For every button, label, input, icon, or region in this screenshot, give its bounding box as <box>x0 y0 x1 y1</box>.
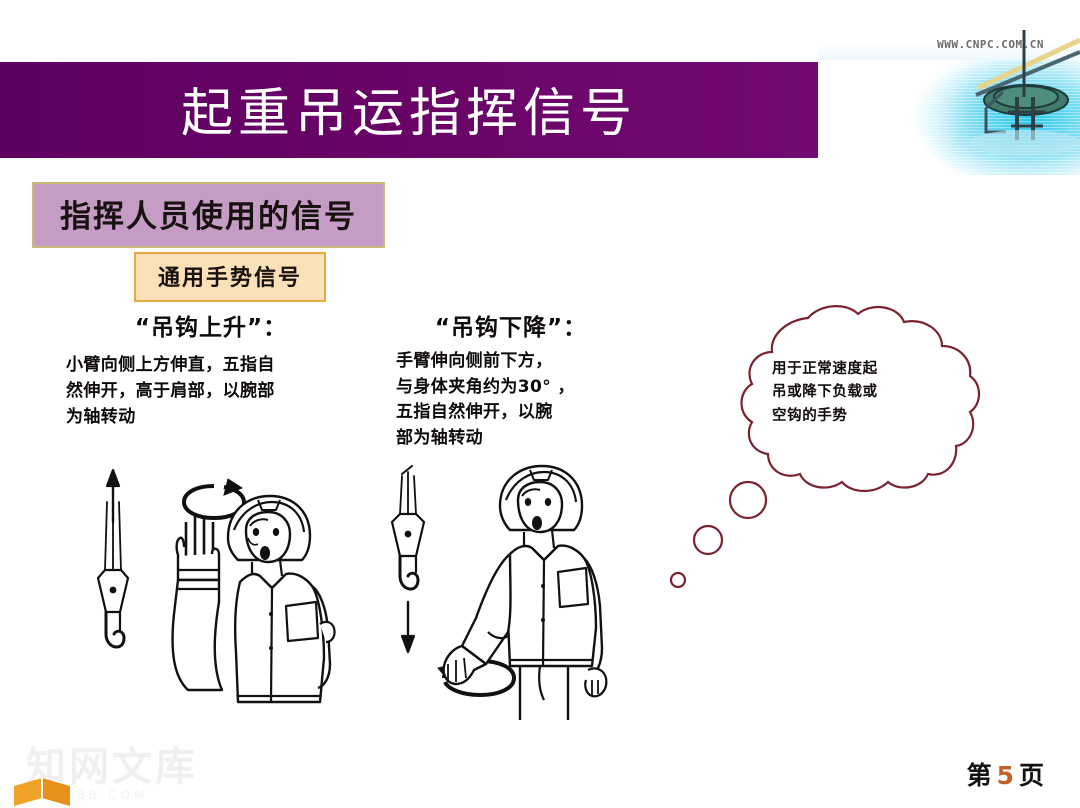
worker-figure <box>444 466 607 720</box>
sub-heading-box: 通用手势信号 <box>134 252 326 302</box>
signal-description-line: 小臂向侧上方伸直，五指自 <box>66 353 356 379</box>
thought-bubble-line: 空钩的手势 <box>772 405 922 428</box>
signal-description: 手臂伸向侧前下方， 与身体夹角约为30° ， 五指自然伸开，以腕 部为轴转动 <box>396 349 626 451</box>
thought-bubble-text: 用于正常速度起 吊或降下负载或 空钩的手势 <box>772 358 922 428</box>
page-number-footer: 第5页 <box>967 756 1046 792</box>
thought-bubble: 用于正常速度起 吊或降下负载或 空钩的手势 <box>660 292 990 596</box>
section-heading-box: 指挥人员使用的信号 <box>32 182 385 248</box>
signal-title: “吊钩上升”： <box>66 308 356 342</box>
signal-description: 小臂向侧上方伸直，五指自 然伸开，高于肩部，以腕部 为轴转动 <box>66 353 356 430</box>
down-arrow-icon <box>402 602 414 652</box>
signal-description-line: 手臂伸向侧前下方， <box>396 349 626 375</box>
thought-bubble-shape <box>660 292 990 592</box>
page-footer-prefix: 第 <box>967 761 994 790</box>
illustration-hook-down <box>382 452 652 724</box>
illustration-hook-up <box>62 452 362 726</box>
raised-hand-gesture <box>173 516 222 690</box>
page-footer-suffix: 页 <box>1019 761 1046 790</box>
thought-bubble-line: 吊或降下负载或 <box>772 381 922 404</box>
signal-description-line: 与身体夹角约为30° ， <box>396 375 626 401</box>
signal-description-line: 然伸开，高于肩部，以腕部 <box>66 379 356 405</box>
watermark-book-logo-icon <box>8 764 78 808</box>
signal-item-hook-down: “吊钩下降”： 手臂伸向侧前下方， 与身体夹角约为30° ， 五指自然伸开，以腕… <box>396 308 626 451</box>
worker-figure <box>228 496 335 702</box>
thought-bubble-trail <box>671 482 766 587</box>
signal-title: “吊钩下降”： <box>396 308 626 342</box>
site-url-watermark: WWW.CNPC.COM.CN <box>937 38 1044 51</box>
signal-description-line: 为轴转动 <box>66 405 356 431</box>
signal-item-hook-up: “吊钩上升”： 小臂向侧上方伸直，五指自 然伸开，高于肩部，以腕部 为轴转动 <box>66 308 356 430</box>
thought-bubble-line: 用于正常速度起 <box>772 358 922 381</box>
signal-description-line: 五指自然伸开，以腕 <box>396 400 626 426</box>
page-title: 起重吊运指挥信号 <box>181 71 637 146</box>
signal-description-line: 部为轴转动 <box>396 426 626 452</box>
page-number: 5 <box>994 761 1019 790</box>
oil-rig-illustration-icon <box>818 0 1080 175</box>
header-decoration-artwork <box>818 0 1080 175</box>
slide-title-banner: 起重吊运指挥信号 <box>0 62 818 158</box>
